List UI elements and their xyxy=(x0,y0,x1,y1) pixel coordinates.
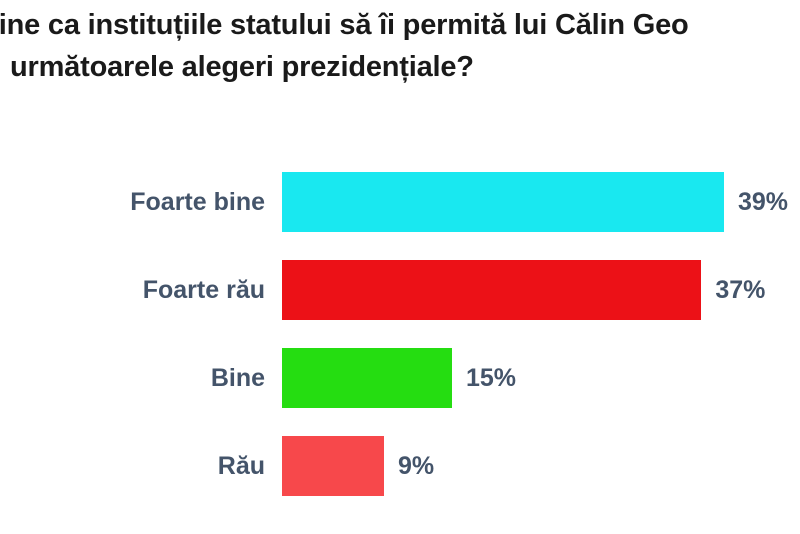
bar-track: 37% xyxy=(282,260,765,320)
bar-row: Foarte rău37% xyxy=(0,260,800,320)
bar-category-label: Foarte rău xyxy=(0,260,265,320)
slide-canvas: te bine ca instituțiile statului să îi p… xyxy=(0,0,800,534)
bar-row: Foarte bine39% xyxy=(0,172,800,232)
bar-track: 9% xyxy=(282,436,434,496)
bar-track: 39% xyxy=(282,172,788,232)
bar-category-label: Bine xyxy=(0,348,265,408)
bar-row: Rău9% xyxy=(0,436,800,496)
bar-4[interactable] xyxy=(282,436,384,496)
bar-value-label: 15% xyxy=(466,348,516,408)
bar-2[interactable] xyxy=(282,260,701,320)
bar-row: Bine15% xyxy=(0,348,800,408)
bar-category-label: Rău xyxy=(0,436,265,496)
bar-track: 15% xyxy=(282,348,516,408)
chart-title-line-2: următoarele alegeri prezidențiale? xyxy=(0,46,800,88)
bar-value-label: 37% xyxy=(715,260,765,320)
bar-value-label: 9% xyxy=(398,436,434,496)
bar-3[interactable] xyxy=(282,348,452,408)
chart-title: te bine ca instituțiile statului să îi p… xyxy=(0,4,800,88)
bar-1[interactable] xyxy=(282,172,724,232)
horizontal-bar-chart: Foarte bine39%Foarte rău37%Bine15%Rău9% xyxy=(0,150,800,534)
bar-category-label: Foarte bine xyxy=(0,172,265,232)
chart-title-line-1: te bine ca instituțiile statului să îi p… xyxy=(0,4,800,46)
bar-value-label: 39% xyxy=(738,172,788,232)
